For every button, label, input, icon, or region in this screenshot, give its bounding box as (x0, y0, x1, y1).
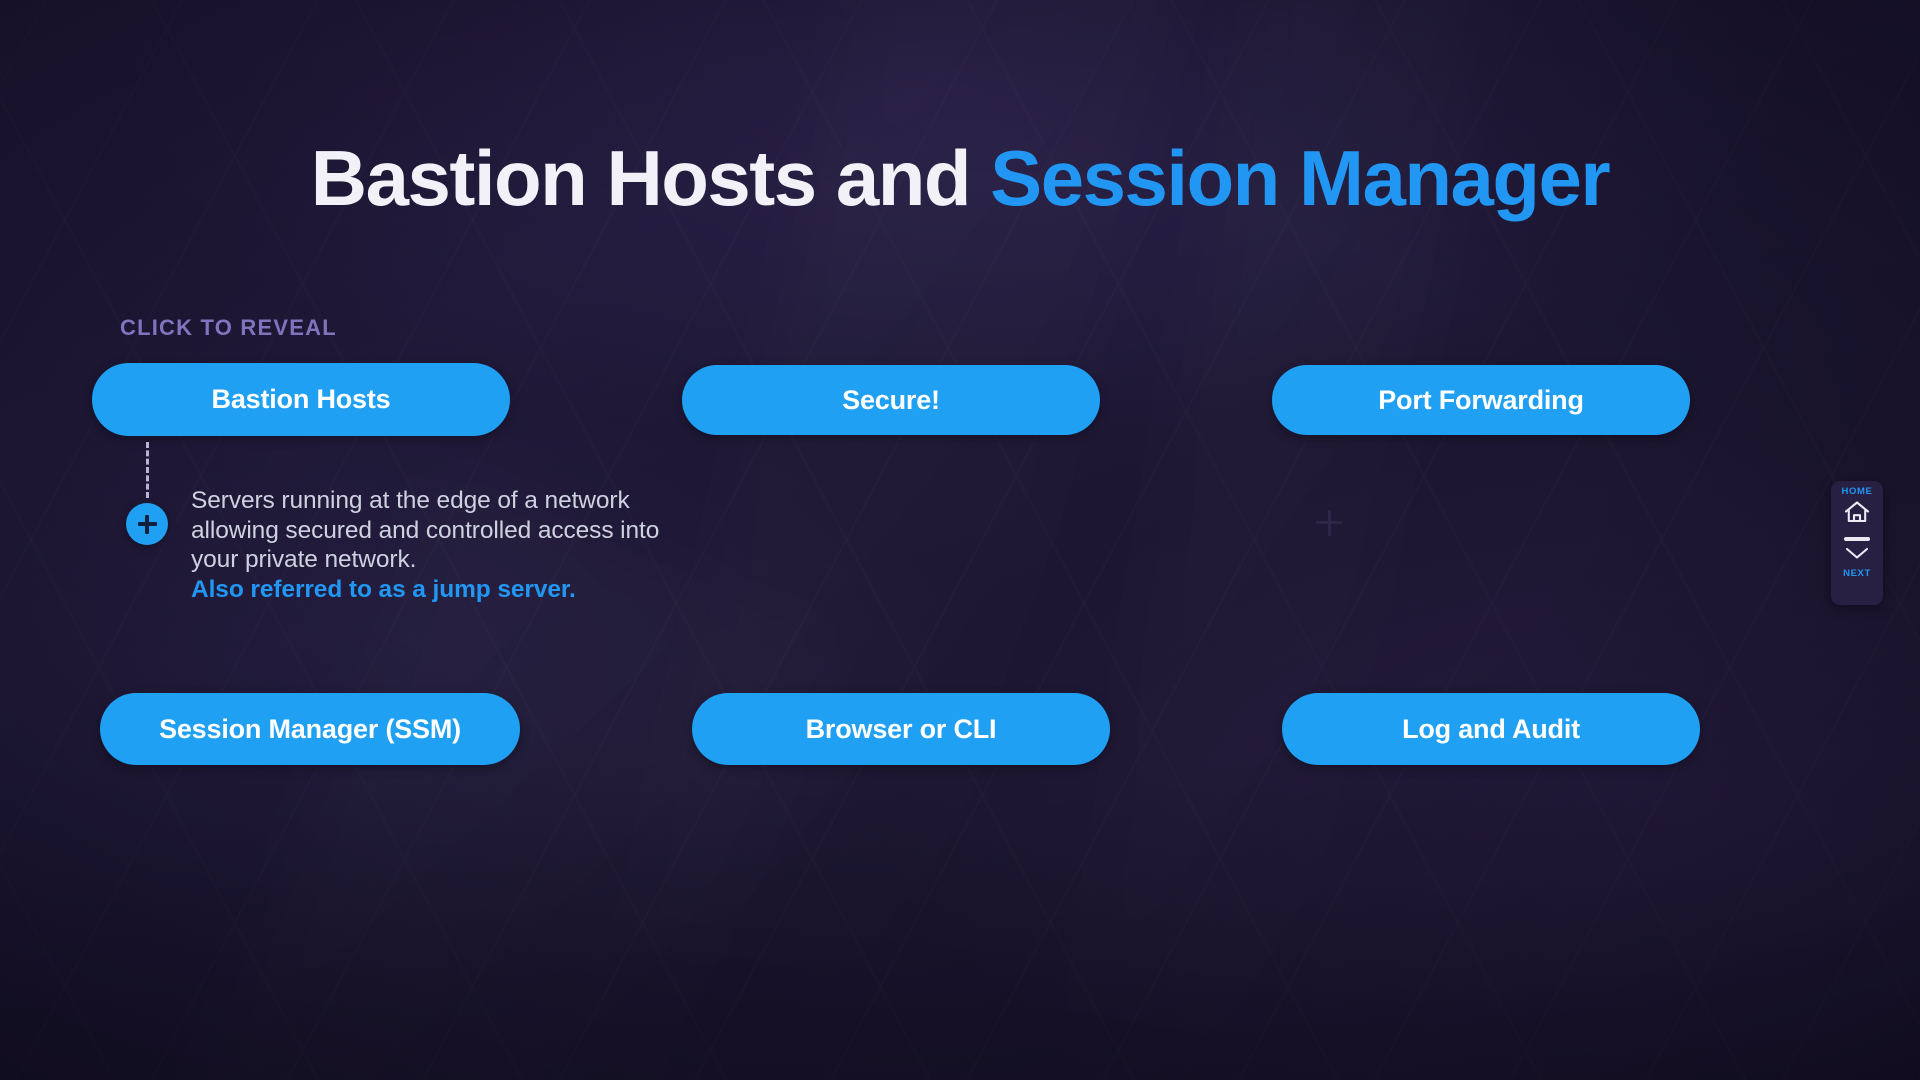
reveal-button-log-and-audit[interactable]: Log and Audit (1282, 693, 1700, 765)
revealed-description: Servers running at the edge of a network… (191, 486, 661, 604)
page-title: Bastion Hosts and Session Manager (0, 138, 1920, 220)
revealed-description-accent: Also referred to as a jump server. (191, 575, 661, 605)
slide-canvas: Bastion Hosts and Session Manager CLICK … (0, 0, 1920, 1080)
revealed-description-body: Servers running at the edge of a network… (191, 487, 659, 573)
home-icon[interactable] (1843, 499, 1871, 530)
dashed-connector-line (146, 442, 149, 498)
reveal-button-port-forwarding[interactable]: Port Forwarding (1272, 365, 1690, 435)
reveal-button-browser-or-cli[interactable]: Browser or CLI (692, 693, 1110, 765)
nav-divider (1844, 537, 1870, 541)
page-title-accent: Session Manager (990, 134, 1609, 222)
plus-icon-vertical-bar (145, 515, 150, 534)
nav-next-label: NEXT (1843, 568, 1871, 579)
reveal-button-bastion-hosts[interactable]: Bastion Hosts (92, 363, 510, 436)
navigation-pod: HOME NEXT (1831, 481, 1883, 605)
chevron-down-icon[interactable] (1843, 545, 1871, 566)
plus-icon[interactable] (126, 503, 168, 545)
page-title-primary: Bastion Hosts and (311, 134, 990, 222)
nav-home-label: HOME (1842, 486, 1873, 497)
reveal-button-secure[interactable]: Secure! (682, 365, 1100, 435)
click-to-reveal-label: CLICK TO REVEAL (120, 315, 337, 341)
plus-icon-vertical-bar (1328, 510, 1331, 536)
reveal-button-session-manager-ssm[interactable]: Session Manager (SSM) (100, 693, 520, 765)
plus-icon-collapsed-marker[interactable] (1316, 510, 1342, 536)
